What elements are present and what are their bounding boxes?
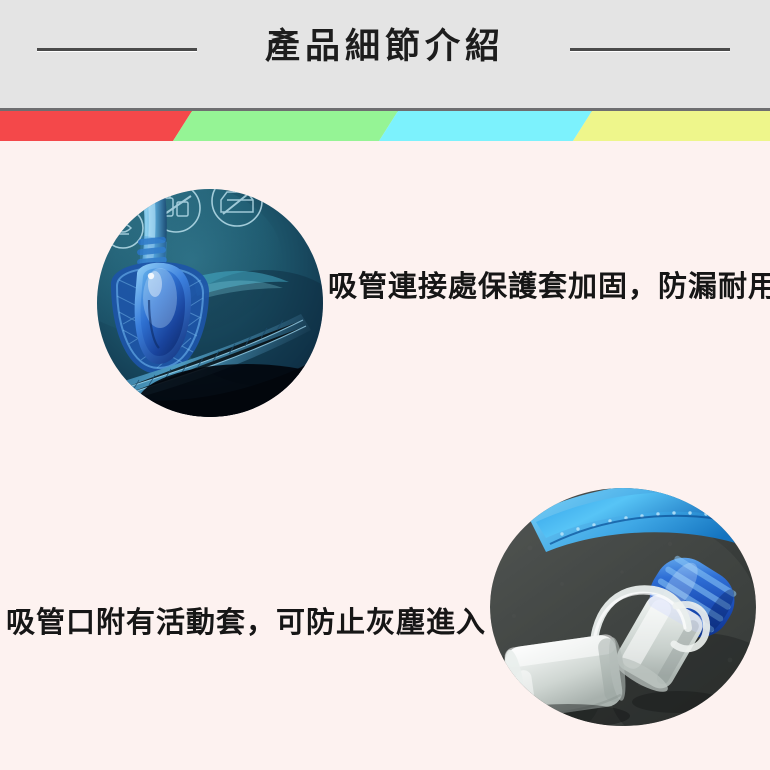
- feature-caption-2: 吸管口附有活動套，可防止灰塵進入: [6, 608, 486, 637]
- feature-caption-1: 吸管連接處保護套加固，防漏耐用: [328, 272, 770, 301]
- photo-mouthpiece-dust-cap: [490, 488, 756, 726]
- product-detail-page: 產品細節介紹: [0, 0, 770, 770]
- decorative-color-bar: [0, 108, 770, 141]
- color-bar-segment-cyan: [379, 111, 592, 141]
- color-bar-segment-red: [0, 111, 192, 141]
- color-bar-segment-green: [173, 111, 398, 141]
- photo-bladder-tube-joint: [97, 188, 323, 418]
- header-rule-right: [570, 48, 730, 52]
- page-title: 產品細節介紹: [0, 18, 770, 69]
- page-header: 產品細節介紹: [0, 0, 770, 108]
- color-bar-segment-yellow: [573, 111, 770, 141]
